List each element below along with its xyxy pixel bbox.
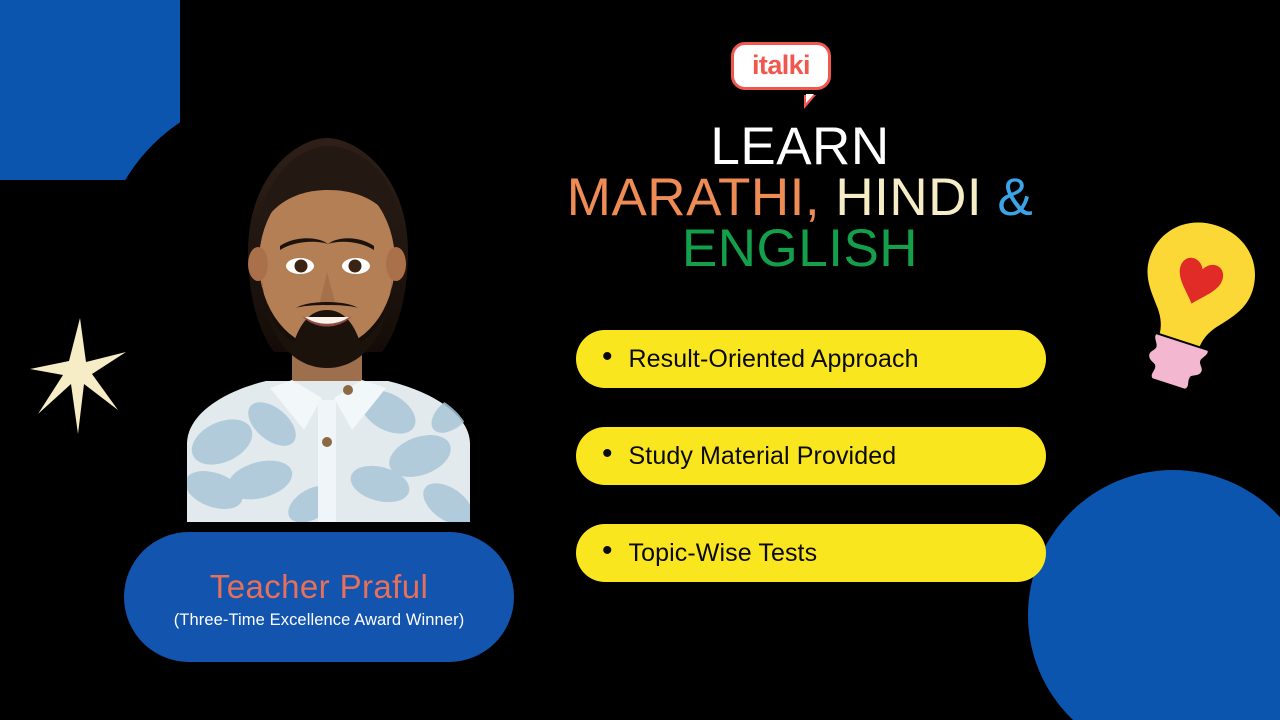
logo-speech-bubble: italki xyxy=(731,42,831,90)
feature-label: Topic-Wise Tests xyxy=(629,539,818,568)
teacher-name-card: Teacher Praful (Three-Time Excellence Aw… xyxy=(124,532,514,662)
bullet-icon: • xyxy=(602,536,613,566)
feature-pill[interactable]: • Study Material Provided xyxy=(576,427,1046,485)
feature-label: Study Material Provided xyxy=(629,442,897,471)
feature-label: Result-Oriented Approach xyxy=(629,345,919,374)
corner-shape-bottom-right-fill xyxy=(1135,570,1280,720)
promo-poster: Teacher Praful (Three-Time Excellence Aw… xyxy=(0,0,1280,720)
bullet-icon: • xyxy=(602,342,613,372)
logo-tail-inner-icon xyxy=(806,94,815,103)
headline-ampersand: & xyxy=(997,168,1033,227)
teacher-subtitle: (Three-Time Excellence Award Winner) xyxy=(174,611,465,630)
headline: LEARN MARATHI, HINDI & ENGLISH xyxy=(520,122,1080,275)
teacher-name: Teacher Praful xyxy=(210,568,428,606)
sparkle-icon xyxy=(30,318,126,434)
logo-text: italki xyxy=(752,52,810,79)
lightbulb-with-heart-icon xyxy=(1128,216,1260,394)
feature-pill[interactable]: • Result-Oriented Approach xyxy=(576,330,1046,388)
feature-pill[interactable]: • Topic-Wise Tests xyxy=(576,524,1046,582)
headline-line-3: ENGLISH xyxy=(520,224,1080,275)
teacher-photo xyxy=(152,112,502,522)
headline-line-2: MARATHI, HINDI & xyxy=(520,173,1080,224)
bullet-icon: • xyxy=(602,439,613,469)
italki-logo[interactable]: italki xyxy=(731,42,833,98)
feature-list: • Result-Oriented Approach • Study Mater… xyxy=(576,330,1046,621)
headline-line-1: LEARN xyxy=(520,122,1080,173)
